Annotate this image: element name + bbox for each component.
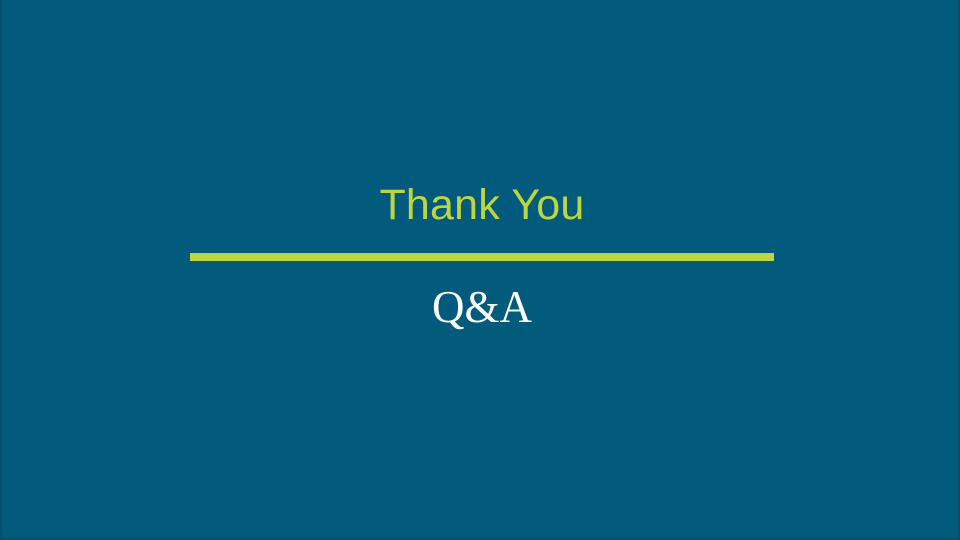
page-title: Thank You	[2, 180, 960, 230]
slide-content-block: Thank You Q&A	[2, 0, 960, 540]
slide-subtitle: Q&A	[2, 281, 960, 333]
presentation-slide: Thank You Q&A	[0, 0, 960, 540]
accent-divider	[190, 253, 774, 261]
